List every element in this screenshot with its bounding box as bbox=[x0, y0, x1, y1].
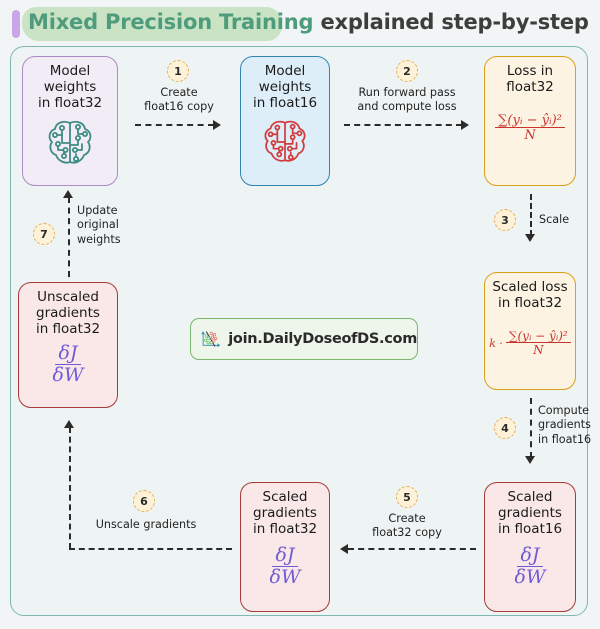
connector-3-arrowhead bbox=[525, 234, 535, 242]
title-accent-bar bbox=[12, 10, 20, 38]
brain-circuit-icon bbox=[44, 117, 96, 167]
formula-numerator: ∑(yᵢ − ŷᵢ)² bbox=[506, 330, 571, 344]
node-loss-float32[interactable]: Loss in float32 ∑(yᵢ − ŷᵢ)² N bbox=[484, 56, 576, 186]
step-badge-5: 5 bbox=[396, 486, 418, 508]
node-formula: k · ∑(yᵢ − ŷᵢ)² N bbox=[489, 330, 570, 357]
formula-denominator: δW bbox=[53, 365, 84, 386]
connector-6-arrowhead bbox=[64, 420, 74, 428]
brain-circuit-icon bbox=[260, 117, 310, 165]
connector-7-arrowhead bbox=[63, 190, 73, 198]
node-title: Scaled loss in float32 bbox=[492, 280, 567, 312]
node-title: Loss in float32 bbox=[506, 64, 554, 96]
formula-numerator: δJ bbox=[517, 546, 542, 567]
formula-numerator: δJ bbox=[272, 546, 297, 567]
step-label-5: Create float32 copy bbox=[360, 512, 454, 541]
step-label-6: Unscale gradients bbox=[90, 518, 202, 532]
formula-denominator: δW bbox=[270, 567, 301, 588]
connector-6-horizontal bbox=[69, 548, 232, 550]
connector-2-arrowhead bbox=[461, 120, 469, 130]
step-label-2: Run forward pass and compute loss bbox=[344, 86, 470, 115]
connector-2 bbox=[344, 124, 462, 126]
step-badge-2: 2 bbox=[396, 60, 418, 82]
step-label-4: Compute gradients in float16 bbox=[538, 404, 600, 447]
watermark-badge[interactable]: join.DailyDoseofDS.com bbox=[190, 318, 418, 360]
formula-fraction: ∑(yᵢ − ŷᵢ)² N bbox=[506, 330, 571, 357]
step-number: 2 bbox=[403, 65, 411, 78]
page-title-rest: explained step-by-step bbox=[313, 10, 588, 34]
node-unscaled-gradients-float32[interactable]: Unscaled gradients in float32 δJ δW bbox=[18, 282, 118, 408]
connector-7 bbox=[68, 197, 70, 277]
formula-prefix: k · bbox=[489, 337, 503, 350]
node-title: Scaled gradients in float16 bbox=[498, 490, 562, 538]
step-badge-1: 1 bbox=[167, 60, 189, 82]
formula-denominator: N bbox=[533, 343, 544, 357]
node-title: Scaled gradients in float32 bbox=[253, 490, 317, 538]
step-number: 1 bbox=[174, 65, 182, 78]
node-scaled-loss-float32[interactable]: Scaled loss in float32 k · ∑(yᵢ − ŷᵢ)² N bbox=[484, 272, 576, 390]
node-formula: δJ δW bbox=[53, 344, 84, 386]
step-badge-7: 7 bbox=[33, 223, 55, 245]
page-title: Mixed Precision Training explained step-… bbox=[28, 10, 589, 34]
page-title-bar: Mixed Precision Training explained step-… bbox=[0, 4, 600, 44]
step-label-3: Scale bbox=[539, 213, 595, 227]
connector-5 bbox=[348, 548, 476, 550]
step-number: 4 bbox=[501, 422, 509, 435]
step-badge-6: 6 bbox=[133, 490, 155, 512]
connector-4-arrowhead bbox=[525, 456, 535, 464]
step-number: 6 bbox=[140, 495, 148, 508]
connector-3 bbox=[530, 194, 532, 236]
connector-6-vertical bbox=[69, 427, 71, 549]
formula-denominator: δW bbox=[515, 567, 546, 588]
step-number: 7 bbox=[40, 228, 48, 241]
connector-4 bbox=[530, 398, 532, 458]
formula-numerator: ∑(yᵢ − ŷᵢ)² bbox=[495, 114, 565, 129]
node-formula: δJ δW bbox=[515, 546, 546, 588]
node-model-weights-float32[interactable]: Model weights in float32 bbox=[22, 56, 118, 186]
node-title: Model weights in float16 bbox=[253, 64, 317, 112]
connector-5-arrowhead bbox=[340, 544, 348, 554]
step-badge-4: 4 bbox=[494, 417, 516, 439]
step-number: 5 bbox=[403, 491, 411, 504]
connector-1 bbox=[135, 124, 214, 126]
scatter-plot-classification-icon bbox=[200, 324, 221, 354]
step-label-7: Update original weights bbox=[77, 204, 135, 247]
step-number: 3 bbox=[501, 214, 509, 227]
node-scaled-gradients-float32[interactable]: Scaled gradients in float32 δJ δW bbox=[240, 482, 330, 612]
connector-1-arrowhead bbox=[213, 120, 221, 130]
node-title: Unscaled gradients in float32 bbox=[36, 290, 100, 338]
step-label-1: Create float16 copy bbox=[132, 86, 226, 115]
page-title-highlighted: Mixed Precision Training bbox=[28, 10, 313, 34]
node-scaled-gradients-float16[interactable]: Scaled gradients in float16 δJ δW bbox=[484, 482, 576, 612]
formula-denominator: N bbox=[524, 128, 535, 143]
step-badge-3: 3 bbox=[494, 209, 516, 231]
node-model-weights-float16[interactable]: Model weights in float16 bbox=[240, 56, 330, 186]
watermark-text: join.DailyDoseofDS.com bbox=[228, 331, 417, 347]
formula-numerator: δJ bbox=[55, 344, 80, 365]
node-title: Model weights in float32 bbox=[38, 64, 102, 112]
node-formula: δJ δW bbox=[270, 546, 301, 588]
node-formula: ∑(yᵢ − ŷᵢ)² N bbox=[495, 114, 565, 143]
